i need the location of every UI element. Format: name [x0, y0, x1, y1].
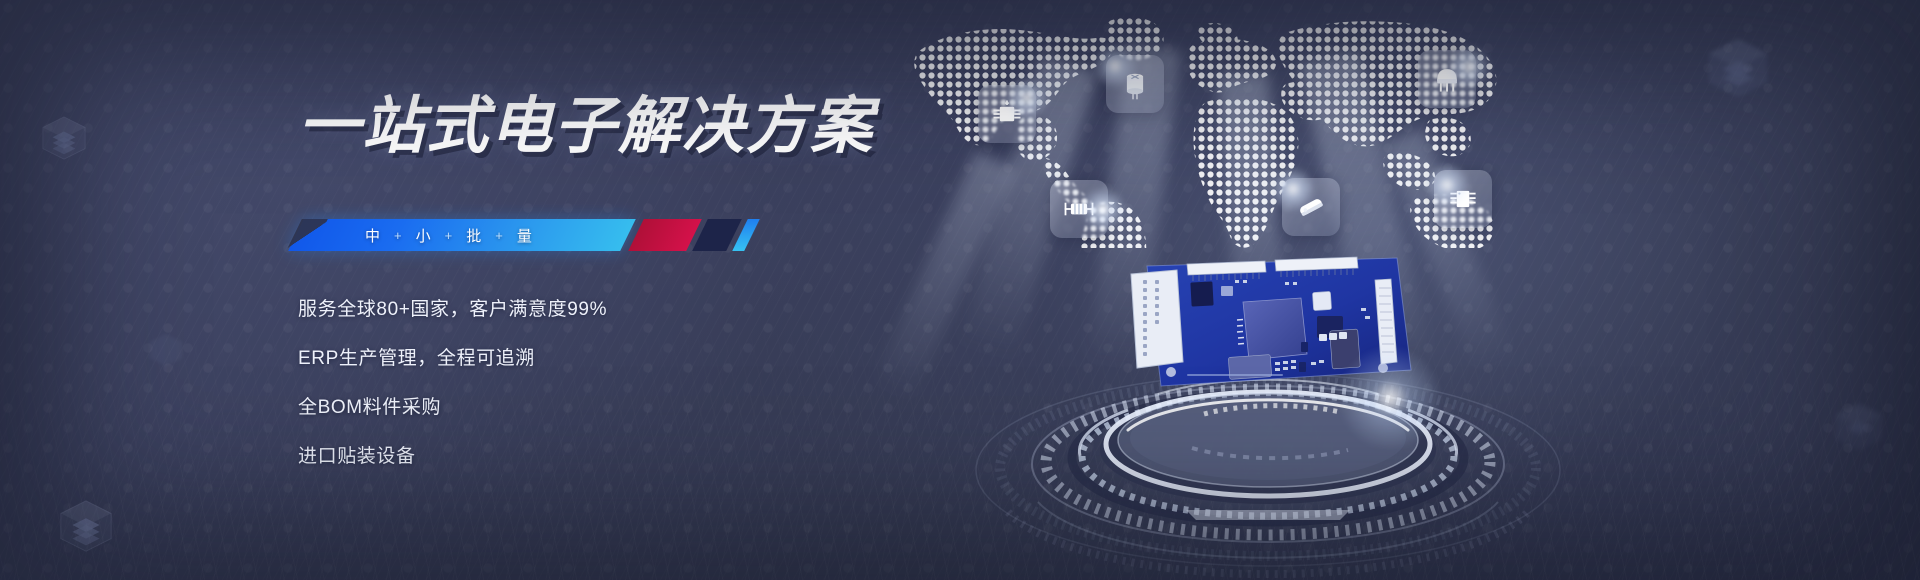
- vignette: [0, 0, 1920, 580]
- hero-banner: 一站式电子解决方案 中 + 小 + 批 + 量 服务全球80+国家，客户满意度9…: [0, 0, 1920, 580]
